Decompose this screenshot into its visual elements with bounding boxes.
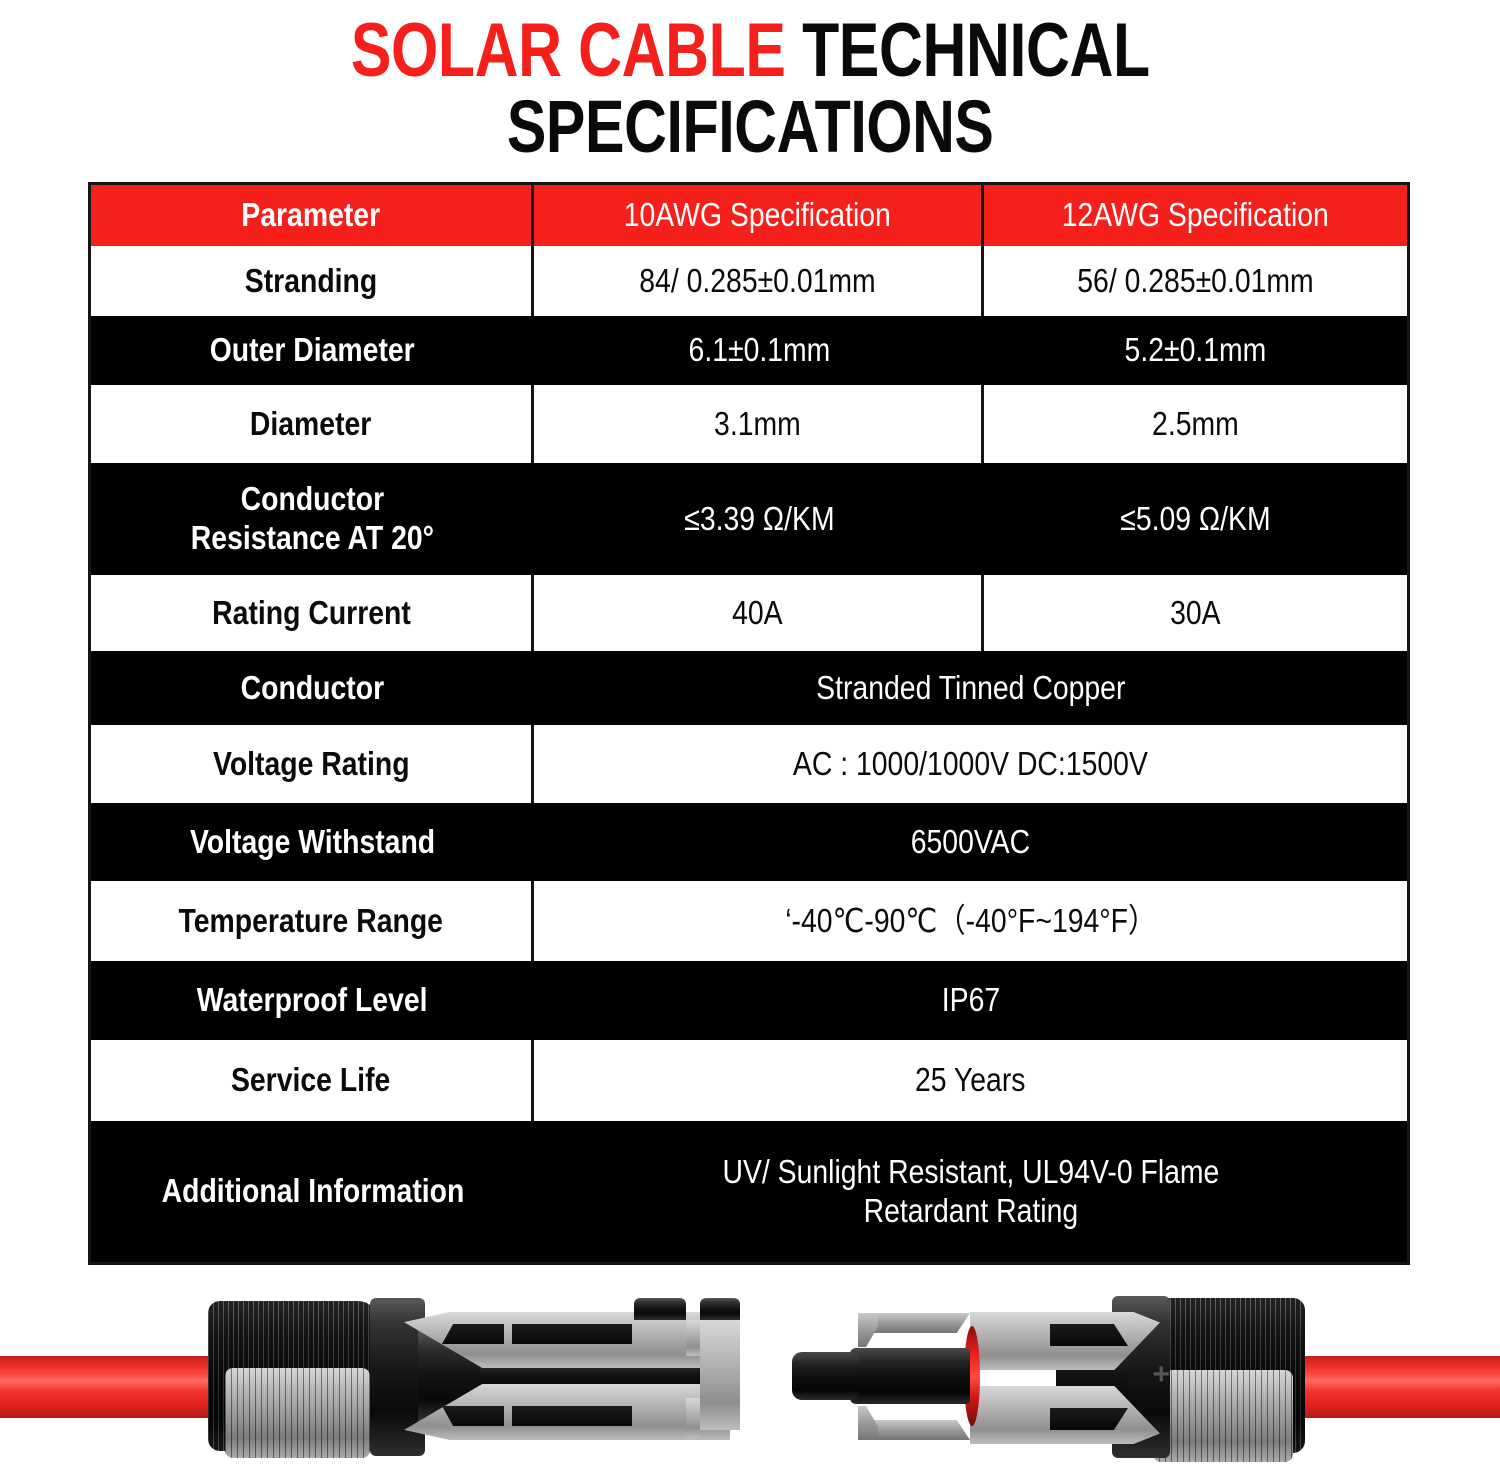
housing-tip-left — [700, 1320, 740, 1430]
housing-slot-upper-2-left — [512, 1324, 632, 1344]
title-solar-cable: SOLAR CABLE — [351, 8, 786, 93]
table-row: Waterproof Level IP67 — [91, 961, 1407, 1040]
row-value-merged: 25 Years — [534, 1040, 1407, 1121]
gland-nut-left — [225, 1368, 370, 1458]
solar-connector-female — [0, 1268, 740, 1469]
row-label: Voltage Withstand — [91, 803, 534, 881]
table-row: Stranding 84/ 0.285±0.01mm 56/ 0.285±0.0… — [91, 246, 1407, 316]
row-value-12awg: 56/ 0.285±0.01mm — [984, 246, 1407, 316]
row-value-merged: AC : 1000/1000V DC:1500V — [534, 725, 1407, 803]
row-value-merged: ‘-40℃-90℃（-40°F~194°F） — [534, 881, 1407, 961]
solar-connector-male: + — [760, 1268, 1500, 1469]
table-header-row: Parameter 10AWG Specification 12AWG Spec… — [91, 185, 1407, 246]
latch-tab-upper-a-left — [634, 1298, 686, 1320]
header-cell-10awg: 10AWG Specification — [534, 185, 984, 246]
row-value-10awg: 6.1±0.1mm — [534, 316, 984, 385]
table-row: Outer Diameter 6.1±0.1mm 5.2±0.1mm — [91, 316, 1407, 385]
row-label: Service Life — [91, 1040, 534, 1121]
row-label: Waterproof Level — [91, 961, 534, 1040]
latch-step-lower-left — [686, 1398, 700, 1438]
latch-step-upper-left — [686, 1320, 700, 1356]
row-value-merged: IP67 — [534, 961, 1407, 1040]
row-value-10awg: 3.1mm — [534, 385, 984, 463]
row-label: Outer Diameter — [91, 316, 534, 385]
red-cable-left — [0, 1356, 220, 1418]
title-line-1: SOLAR CABLE TECHNICAL — [351, 13, 1150, 89]
title-specifications: SPECIFICATIONS — [507, 85, 994, 168]
table-row: Additional Information UV/ Sunlight Resi… — [91, 1121, 1407, 1262]
table-row: Temperature Range ‘-40℃-90℃（-40°F~194°F） — [91, 881, 1407, 961]
latch-tab-upper-b-left — [700, 1298, 740, 1320]
row-label: Voltage Rating — [91, 725, 534, 803]
row-value-12awg: ≤5.09 Ω/KM — [984, 463, 1407, 575]
table-row: Conductor Resistance AT 20° ≤3.39 Ω/KM ≤… — [91, 463, 1407, 575]
page-title: SOLAR CABLE TECHNICAL SPECIFICATIONS — [0, 0, 1500, 178]
product-photo-strip: + — [0, 1268, 1500, 1469]
row-value-merged: Stranded Tinned Copper — [534, 651, 1407, 725]
contact-pin-tip — [792, 1352, 860, 1400]
title-technical: TECHNICAL — [785, 8, 1149, 93]
latch-hook-upper-right — [858, 1313, 878, 1347]
table-row: Voltage Withstand 6500VAC — [91, 803, 1407, 881]
row-value-merged: UV/ Sunlight Resistant, UL94V-0 Flame Re… — [534, 1121, 1407, 1262]
row-value-merged: 6500VAC — [534, 803, 1407, 881]
row-label: Additional Information — [91, 1121, 534, 1262]
table-row: Service Life 25 Years — [91, 1040, 1407, 1121]
row-value-10awg: 40A — [534, 575, 984, 651]
latch-hook-lower-right — [858, 1406, 878, 1440]
polarity-plus-mark: + — [1152, 1360, 1170, 1390]
row-value-12awg: 5.2±0.1mm — [984, 316, 1407, 385]
row-label: Stranding — [91, 246, 534, 316]
header-cell-12awg: 12AWG Specification — [984, 185, 1407, 246]
contact-pin-barrel — [850, 1348, 970, 1404]
specifications-table: Parameter 10AWG Specification 12AWG Spec… — [88, 182, 1410, 1265]
row-label: Conductor — [91, 651, 534, 725]
gland-nut-right — [1153, 1370, 1293, 1462]
header-cell-parameter: Parameter — [91, 185, 534, 246]
row-value-12awg: 30A — [984, 575, 1407, 651]
row-value-10awg: 84/ 0.285±0.01mm — [534, 246, 984, 316]
housing-slot-lower-2-left — [512, 1406, 632, 1426]
row-label: Conductor Resistance AT 20° — [91, 463, 534, 575]
table-row: Rating Current 40A 30A — [91, 575, 1407, 651]
table-row: Voltage Rating AC : 1000/1000V DC:1500V — [91, 725, 1407, 803]
row-label: Temperature Range — [91, 881, 534, 961]
row-label: Rating Current — [91, 575, 534, 651]
row-value-10awg: ≤3.39 Ω/KM — [534, 463, 984, 575]
row-label: Diameter — [91, 385, 534, 463]
table-row: Conductor Stranded Tinned Copper — [91, 651, 1407, 725]
title-line-2: SPECIFICATIONS — [507, 89, 994, 165]
row-value-12awg: 2.5mm — [984, 385, 1407, 463]
table-row: Diameter 3.1mm 2.5mm — [91, 385, 1407, 463]
